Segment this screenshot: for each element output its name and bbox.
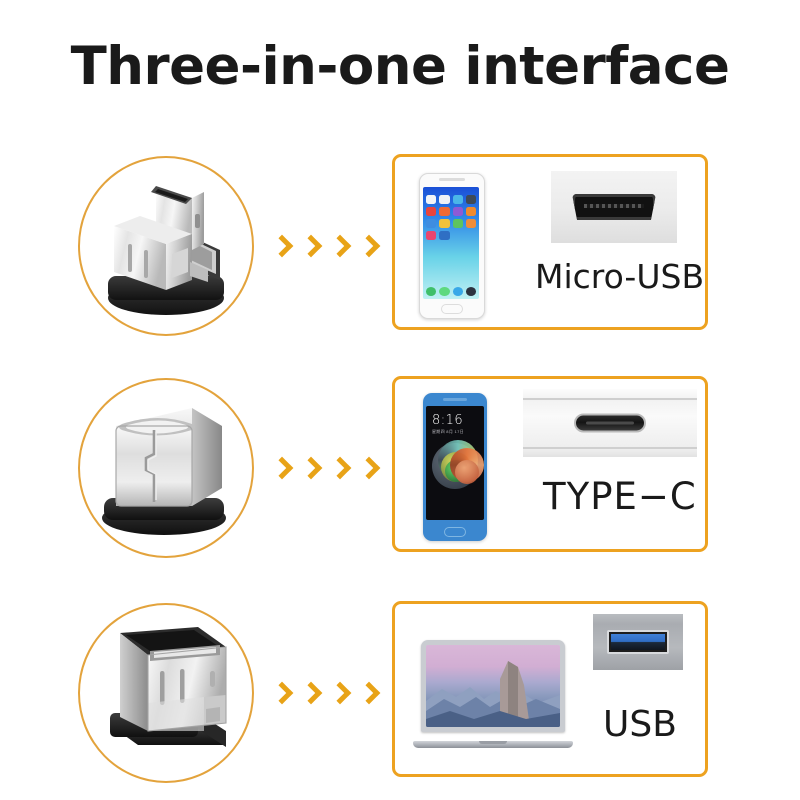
chevron-right-icon (303, 459, 316, 481)
lockscreen-date: 星期四 8月 17日 (432, 429, 464, 435)
app-icon (426, 231, 436, 240)
label-micro-usb: Micro-USB (535, 257, 704, 296)
connector-circle-micro-usb (78, 156, 254, 336)
chevron-right-icon (303, 684, 316, 706)
blue-smartphone: 8:16 星期四 8月 17日 (423, 393, 487, 541)
app-icon (439, 219, 449, 228)
chevron-right-icon (361, 684, 374, 706)
camera-icon (466, 287, 476, 296)
phone-home-button (441, 304, 463, 314)
usb-c-connector-illustration (80, 380, 256, 560)
app-icon (466, 195, 476, 204)
panel-usb: USB (392, 601, 708, 777)
lockscreen-time: 8:16 (432, 413, 463, 428)
chevron-right-arrows (274, 228, 374, 268)
phone-lockscreen: 8:16 星期四 8月 17日 (426, 406, 484, 520)
usb-a-connector-illustration (80, 605, 256, 785)
chevron-right-arrows (274, 450, 374, 490)
chevron-right-icon (332, 459, 345, 481)
phone-screen (423, 187, 479, 299)
phone-dock (426, 287, 476, 296)
row-usb: USB (0, 597, 800, 797)
page-title: Three-in-one interface (0, 36, 800, 97)
app-grid (426, 195, 476, 240)
app-icon (453, 195, 463, 204)
app-icon (466, 207, 476, 216)
lockscreen-wallpaper (432, 440, 480, 492)
chevron-right-icon (303, 237, 316, 259)
connector-circle-type-c (78, 378, 254, 558)
chevron-right-icon (332, 684, 345, 706)
micro-usb-port-photo (551, 171, 677, 243)
laptop-base (413, 741, 573, 748)
phone-icon (426, 287, 436, 296)
infographic-page: Three-in-one interface (0, 0, 800, 800)
app-icon (453, 207, 463, 216)
app-icon (466, 219, 476, 228)
app-icon (426, 219, 436, 228)
phone-earpiece (443, 398, 467, 401)
label-type-c: TYPE−C (543, 475, 697, 518)
laptop (413, 640, 573, 748)
label-usb: USB (603, 704, 677, 745)
chevron-right-icon (274, 684, 287, 706)
device-edge-line (523, 447, 697, 449)
phone-home-button (444, 527, 466, 537)
device-edge-line (523, 398, 697, 400)
browser-icon (453, 287, 463, 296)
panel-micro-usb: Micro-USB (392, 154, 708, 330)
chevron-right-icon (361, 237, 374, 259)
usb3-blue-insert (611, 634, 665, 650)
usb-a-port-photo (593, 614, 683, 670)
usb-a-port-opening (607, 630, 669, 654)
chevron-right-arrows (274, 675, 374, 715)
micro-usb-connector-photo (80, 158, 256, 338)
connector-circle-usb (78, 603, 254, 783)
app-icon (439, 207, 449, 216)
wallpaper-ring (455, 460, 479, 484)
laptop-screen (426, 645, 560, 727)
usb-a-connector-photo (80, 605, 256, 785)
chevron-right-icon (361, 459, 374, 481)
wallpaper-mountains (426, 645, 560, 727)
laptop-lid (421, 640, 565, 732)
chevron-right-icon (274, 459, 287, 481)
row-type-c: 8:16 星期四 8月 17日 (0, 372, 800, 572)
row-micro-usb: Micro-USB (0, 150, 800, 350)
chevron-right-icon (274, 237, 287, 259)
chevron-right-icon (332, 237, 345, 259)
white-smartphone (419, 173, 485, 319)
messages-icon (439, 287, 449, 296)
micro-usb-connector-illustration (80, 158, 256, 338)
app-icon (439, 231, 449, 240)
app-icon (426, 207, 436, 216)
app-icon (453, 219, 463, 228)
usb-c-port-photo (523, 389, 697, 457)
usb-c-port-opening (574, 414, 646, 433)
app-icon (439, 195, 449, 204)
panel-type-c: 8:16 星期四 8月 17日 (392, 376, 708, 552)
app-icon (426, 195, 436, 204)
usb-c-connector-photo (80, 380, 256, 560)
phone-earpiece (439, 178, 465, 181)
micro-usb-port-opening (572, 194, 656, 220)
